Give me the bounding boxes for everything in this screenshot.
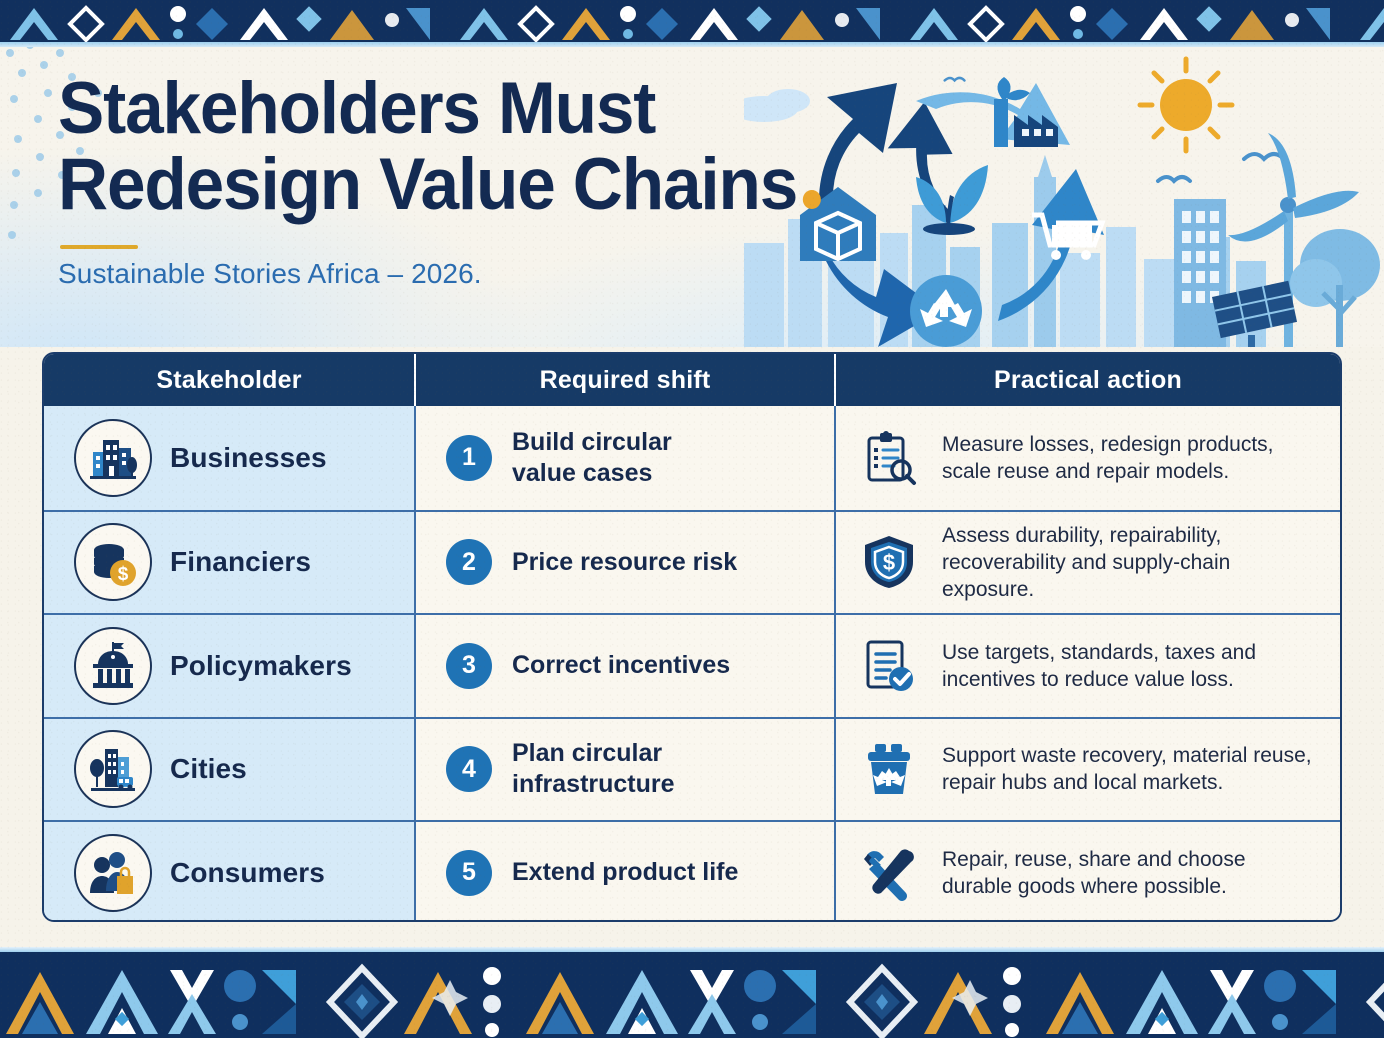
table-header-row: Stakeholder Required shift Practical act… xyxy=(44,354,1340,406)
required-shift-cell: 4 Plan circularinfrastructure xyxy=(414,719,834,821)
table-row: Consumers 5 Extend product life xyxy=(44,820,1340,922)
step-number-badge: 1 xyxy=(446,435,492,481)
page-title-line-2: Redesign Value Chains xyxy=(58,147,809,223)
required-shift-text: Build circularvalue cases xyxy=(512,427,672,489)
stakeholder-table: Stakeholder Required shift Practical act… xyxy=(42,352,1342,922)
table-row: Businesses 1 Build circularvalue cases xyxy=(44,406,1340,510)
stakeholder-cell: Consumers xyxy=(44,822,414,922)
practical-action-cell: Use targets, standards, taxes and incent… xyxy=(834,615,1340,717)
clipboard-magnifier-icon xyxy=(858,427,920,489)
required-shift-cell: 1 Build circularvalue cases xyxy=(414,406,834,510)
stakeholder-label: Financiers xyxy=(170,546,311,578)
practical-action-text: Measure losses, redesign products, scale… xyxy=(942,431,1318,485)
required-shift-text: Plan circularinfrastructure xyxy=(512,738,675,800)
people-shopping-bag-icon xyxy=(74,834,152,912)
recycle-bin-icon xyxy=(858,738,920,800)
required-shift-cell: 3 Correct incentives xyxy=(414,615,834,717)
stakeholder-cell: Policymakers xyxy=(44,615,414,717)
stakeholder-label: Consumers xyxy=(170,857,325,889)
table-row: $ Financiers 2 Price resource risk $ xyxy=(44,510,1340,614)
stakeholder-cell: Businesses xyxy=(44,406,414,510)
city-tree-bus-icon xyxy=(74,730,152,808)
title-block: Stakeholders Must Redesign Value Chains … xyxy=(58,71,848,290)
sun-icon xyxy=(1140,59,1232,151)
government-building-icon xyxy=(74,627,152,705)
table-row: Cities 4 Plan circularinfrastructure xyxy=(44,717,1340,821)
stakeholder-label: Cities xyxy=(170,753,247,785)
top-pattern-border xyxy=(0,0,1384,42)
svg-text:$: $ xyxy=(883,550,895,575)
step-number-badge: 5 xyxy=(446,850,492,896)
practical-action-text: Assess durability, repairability, recove… xyxy=(942,522,1318,603)
stakeholder-label: Policymakers xyxy=(170,650,352,682)
column-header-practical-action: Practical action xyxy=(834,354,1340,406)
required-shift-text: Price resource risk xyxy=(512,547,737,578)
required-shift-cell: 2 Price resource risk xyxy=(414,512,834,614)
coins-dollar-icon: $ xyxy=(74,523,152,601)
column-header-required-shift: Required shift xyxy=(414,354,834,406)
shield-dollar-icon: $ xyxy=(858,531,920,593)
stakeholder-cell: $ Financiers xyxy=(44,512,414,614)
recycle-globe-icon xyxy=(910,275,982,347)
page-title-line-1: Stakeholders Must xyxy=(58,71,809,147)
svg-text:$: $ xyxy=(118,564,129,585)
infographic-poster: Stakeholders Must Redesign Value Chains … xyxy=(0,0,1384,1038)
column-header-stakeholder: Stakeholder xyxy=(44,354,414,406)
bottom-pattern-border xyxy=(0,952,1384,1038)
required-shift-text: Extend product life xyxy=(512,857,738,888)
step-number-badge: 3 xyxy=(446,643,492,689)
practical-action-cell: Measure losses, redesign products, scale… xyxy=(834,406,1340,510)
stakeholder-cell: Cities xyxy=(44,719,414,821)
step-number-badge: 2 xyxy=(446,539,492,585)
step-number-badge: 4 xyxy=(446,746,492,792)
practical-action-cell: Support waste recovery, material reuse, … xyxy=(834,719,1340,821)
gold-period-dot xyxy=(803,190,821,209)
practical-action-text: Use targets, standards, taxes and incent… xyxy=(942,639,1318,693)
office-buildings-icon xyxy=(74,419,152,497)
stakeholder-label: Businesses xyxy=(170,442,327,474)
poster-header: Stakeholders Must Redesign Value Chains … xyxy=(0,47,1384,347)
page-subtitle: Sustainable Stories Africa – 2026. xyxy=(58,258,848,290)
table-row: Policymakers 3 Correct incentives xyxy=(44,613,1340,717)
document-check-icon xyxy=(858,635,920,697)
required-shift-cell: 5 Extend product life xyxy=(414,822,834,922)
required-shift-text: Correct incentives xyxy=(512,650,730,681)
practical-action-text: Repair, reuse, share and choose durable … xyxy=(942,846,1318,900)
practical-action-cell: $ Assess durability, repairability, reco… xyxy=(834,512,1340,614)
practical-action-cell: Repair, reuse, share and choose durable … xyxy=(834,822,1340,922)
practical-action-text: Support waste recovery, material reuse, … xyxy=(942,742,1318,796)
gold-accent-rule xyxy=(60,245,138,249)
wrench-screwdriver-icon xyxy=(858,842,920,904)
tree-icon xyxy=(1290,229,1380,347)
